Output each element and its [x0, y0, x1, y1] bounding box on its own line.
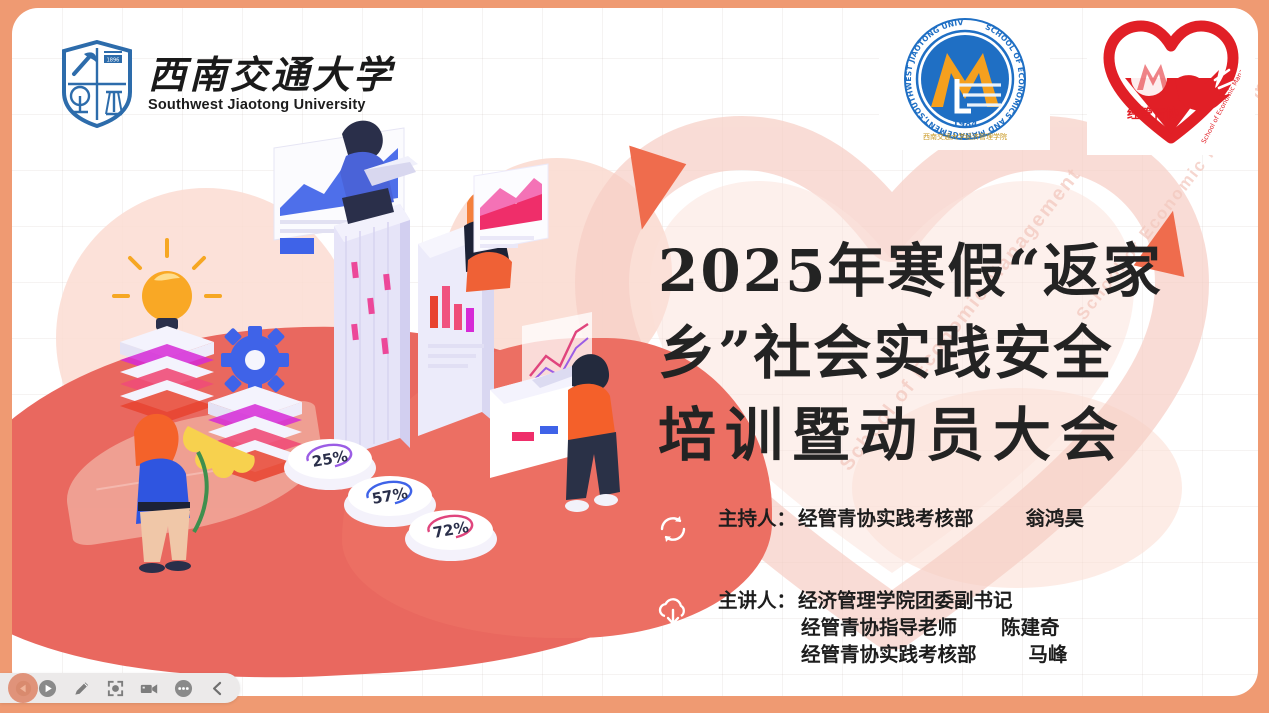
- cloud-download-icon: [653, 591, 693, 631]
- more-button[interactable]: [166, 673, 200, 703]
- association-name-cn: 经管青协: [1127, 106, 1179, 122]
- pen-button[interactable]: [64, 673, 98, 703]
- person-with-laptop-top: [340, 121, 418, 224]
- collapse-button[interactable]: [200, 673, 234, 703]
- speaker-line-1: 主讲人：经济管理学院团委副书记: [718, 588, 1068, 615]
- school-emblem-icon: SCHOOL OF ECONOMICS AND MANAGEMENT,SOUTH…: [901, 15, 1029, 143]
- svg-text:1896: 1896: [107, 58, 120, 64]
- record-button[interactable]: [132, 673, 166, 703]
- speaker-name-2: 陈建奇: [1001, 615, 1060, 642]
- presenter-speaker-text: 主讲人：经济管理学院团委副书记 经管青协指导老师陈建奇 经管青协实践考核部马峰: [718, 588, 1068, 669]
- previous-triangle-icon: [15, 680, 32, 697]
- stacked-platform-left: [120, 326, 214, 422]
- pencil-icon: [72, 679, 91, 698]
- previous-slide-button[interactable]: [8, 673, 38, 703]
- person-standing-right: [565, 354, 620, 512]
- speaker-org-3: 经管青协实践考核部: [801, 644, 977, 666]
- presenter-host-row: 主持人：经管青协实践考核部翁鸿昊: [644, 506, 1204, 558]
- more-icon: [174, 679, 193, 698]
- presenter-host-text: 主持人：经管青协实践考核部翁鸿昊: [718, 506, 1084, 532]
- speaker-line-3: 经管青协实践考核部马峰: [718, 642, 1068, 669]
- presenter-section: 主持人：经管青协实践考核部翁鸿昊 主讲人：经济管理学院团委副书记: [644, 506, 1204, 696]
- swjtu-shield-icon: 1896: [60, 40, 134, 128]
- university-name-en: Southwest Jiaotong University: [148, 98, 394, 113]
- lightbulb-icon: [114, 240, 220, 338]
- speaker-name-3: 马峰: [1029, 642, 1068, 669]
- slide-title: 2025年寒假“返家 乡”社会实践安全 培训暨动员大会: [658, 230, 1178, 476]
- university-logo: 1896 西南交通大学 Southwest Jiaotong Universit…: [60, 40, 394, 128]
- title-line-3: 培训暨动员大会: [658, 394, 1178, 476]
- title-line-1: 2025年寒假“返家: [658, 230, 1178, 312]
- speaker-role-label: 主讲人：: [718, 590, 796, 612]
- speaker-line-2: 经管青协指导老师陈建奇: [718, 615, 1068, 642]
- refresh-icon: [653, 509, 693, 549]
- video-icon: [139, 679, 159, 698]
- host-name: 翁鸿昊: [1026, 506, 1085, 532]
- host-role-label: 主持人：: [718, 508, 796, 530]
- presenter-speaker-row: 主讲人：经济管理学院团委副书记 经管青协指导老师陈建奇 经管青协实践考核部马峰: [644, 588, 1204, 669]
- slide-stage: School of Economic Management School of …: [0, 0, 1269, 713]
- university-name-cn: 西南交通大学: [148, 56, 394, 94]
- gear-icon: [221, 326, 289, 394]
- pink-chart-panel: [474, 164, 548, 252]
- focus-button[interactable]: [98, 673, 132, 703]
- person-woman-blue: [134, 414, 191, 573]
- stat-disc-3: 72%: [405, 510, 497, 561]
- speaker-org-1: 经济管理学院团委副书记: [798, 590, 1013, 612]
- association-heart-icon: 经管青协 School of Economic Management: [1101, 16, 1241, 148]
- host-org: 经管青协实践考核部: [798, 508, 974, 530]
- cloud-badge: [644, 582, 702, 640]
- association-logo-card: 经管青协 School of Economic Management: [1087, 8, 1255, 155]
- server-rack: [334, 204, 410, 460]
- slide-card: School of Economic Management School of …: [12, 8, 1258, 696]
- school-logo-card: SCHOOL OF ECONOMICS AND MANAGEMENT,SOUTH…: [879, 8, 1050, 150]
- svg-text:西南交通大学经济管理学院: 西南交通大学经济管理学院: [923, 132, 1007, 141]
- play-icon: [38, 679, 57, 698]
- refresh-badge: [644, 500, 702, 558]
- focus-icon: [106, 679, 125, 698]
- title-line-2: 乡”社会实践安全: [658, 312, 1178, 394]
- speaker-org-2: 经管青协指导老师: [801, 617, 957, 639]
- svg-text:1984: 1984: [952, 120, 977, 130]
- chevron-left-icon: [209, 680, 226, 697]
